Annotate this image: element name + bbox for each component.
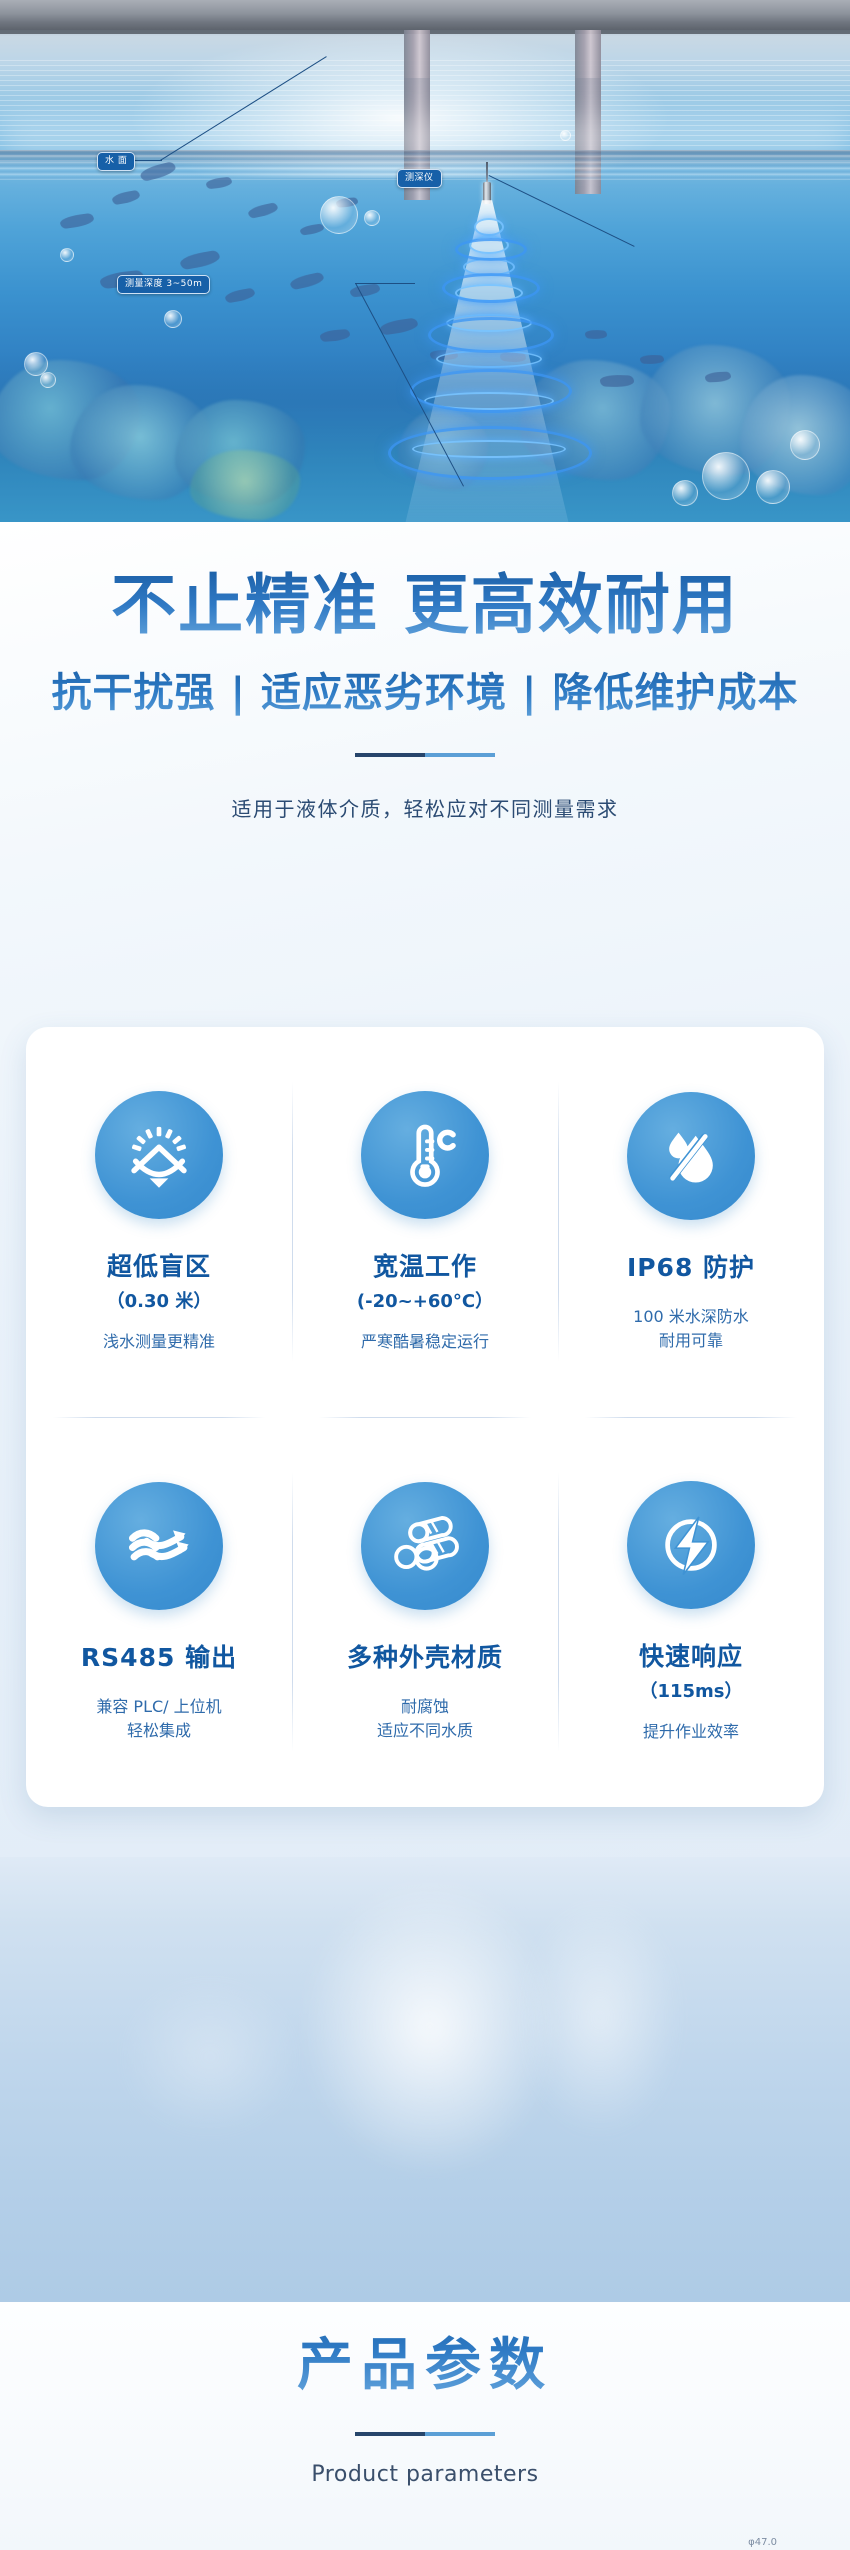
- feature-card-panel: 超低盲区 （0.30 米） 浅水测量更精准: [26, 1027, 824, 1807]
- bubble: [702, 452, 750, 500]
- feature-title: IP68 防护: [627, 1248, 755, 1284]
- fish: [179, 250, 221, 271]
- feature-card-wide-temperature[interactable]: 宽温工作 (-20~+60°C） 严寒酷暑稳定运行: [292, 1027, 558, 1417]
- divider-dark-segment: [355, 2432, 425, 2436]
- fish: [320, 329, 351, 342]
- bridge-deck: [0, 0, 850, 30]
- feature-desc: 耐腐蚀 适应不同水质: [377, 1695, 473, 1743]
- sonar-ring: [410, 369, 572, 413]
- headline-caption: 适用于液体介质，轻松应对不同测量需求: [0, 793, 850, 822]
- lightning-bolt-icon: [627, 1481, 755, 1609]
- feature-grid: 超低盲区 （0.30 米） 浅水测量更精准: [26, 1027, 824, 1807]
- fish: [379, 317, 418, 335]
- divider-dark-segment: [355, 753, 425, 757]
- feature-card-housing-materials[interactable]: 多种外壳材质 耐腐蚀 适应不同水质: [292, 1417, 558, 1807]
- bubble: [164, 310, 182, 328]
- feature-spec: （0.30 米）: [107, 1287, 212, 1313]
- bubble: [320, 196, 358, 234]
- bubble: [60, 248, 74, 262]
- bubble: [672, 480, 698, 506]
- params-title-en: Product parameters: [0, 2462, 850, 2487]
- hero-label-depth-sounder: 测深仪: [397, 169, 442, 188]
- water-background-strip: [0, 1857, 850, 2302]
- feature-desc: 100 米水深防水 耐用可靠: [633, 1305, 749, 1353]
- feature-title: 宽温工作: [373, 1247, 477, 1283]
- waterproof-droplet-icon: [627, 1092, 755, 1220]
- product-detail-page: 水 面 测深仪 测量深度 3~50m 不止精准 更高效耐用 抗干扰强 | 适应恶…: [0, 0, 850, 2550]
- leader-line-depth-sounder: [489, 175, 635, 247]
- feature-title: 超低盲区: [107, 1247, 211, 1283]
- leader-line-depth-flat: [355, 283, 415, 284]
- sonar-ring: [442, 273, 540, 303]
- fish: [299, 223, 324, 235]
- thermometer-celsius-icon: [361, 1091, 489, 1219]
- feature-card-low-blind-zone[interactable]: 超低盲区 （0.30 米） 浅水测量更精准: [26, 1027, 292, 1417]
- sonar-ring: [388, 426, 592, 480]
- water-splash-highlight: [520, 1897, 680, 2137]
- feature-desc: 浅水测量更精准: [103, 1330, 215, 1354]
- fish: [289, 272, 325, 291]
- signal-wave-arrows-icon: [95, 1482, 223, 1610]
- divider-light-segment: [425, 2432, 495, 2436]
- page-subtitle: 抗干扰强 | 适应恶劣环境 | 降低维护成本: [0, 667, 850, 719]
- product-parameters-section: 产品参数 Product parameters φ47.0: [0, 2302, 850, 2550]
- sonar-ring: [428, 317, 554, 353]
- fish: [585, 329, 608, 340]
- hero-label-measuring-depth: 测量深度 3~50m: [117, 275, 210, 294]
- sonar-arc: [474, 218, 504, 236]
- fish: [350, 283, 381, 297]
- sensor-cable: [486, 162, 488, 184]
- fish: [59, 213, 94, 230]
- feature-title: RS485 输出: [81, 1638, 237, 1674]
- feature-card-ip68[interactable]: IP68 防护 100 米水深防水 耐用可靠: [558, 1027, 824, 1417]
- feature-title: 多种外壳材质: [347, 1638, 503, 1674]
- dimension-note: φ47.0: [748, 2537, 777, 2548]
- fish: [247, 202, 279, 219]
- gauge-blind-zone-icon: [95, 1091, 223, 1219]
- hero-label-water-surface: 水 面: [97, 152, 135, 171]
- feature-title: 快速响应: [639, 1637, 743, 1673]
- bubble: [40, 372, 56, 388]
- coral-cluster-7: [190, 450, 300, 520]
- feature-spec: (-20~+60°C）: [357, 1287, 493, 1313]
- page-title: 不止精准 更高效耐用: [0, 567, 850, 645]
- feature-spec: （115ms）: [639, 1677, 742, 1703]
- fish: [224, 287, 255, 303]
- feature-card-fast-response[interactable]: 快速响应 （115ms） 提升作业效率: [558, 1417, 824, 1807]
- divider-light-segment: [425, 753, 495, 757]
- fish: [111, 190, 140, 206]
- feature-desc: 严寒酷暑稳定运行: [361, 1330, 489, 1354]
- sonar-ring: [455, 238, 527, 261]
- bubble: [790, 430, 820, 460]
- bubble: [364, 210, 380, 226]
- feature-desc: 兼容 PLC/ 上位机 轻松集成: [96, 1695, 221, 1743]
- bubble: [756, 470, 790, 504]
- params-divider: [355, 2432, 495, 2436]
- features-section: 不止精准 更高效耐用 抗干扰强 | 适应恶劣环境 | 降低维护成本 适用于液体介…: [0, 522, 850, 2302]
- pier-reflection-right: [575, 78, 601, 198]
- hero-underwater-illustration: 水 面 测深仪 测量深度 3~50m: [0, 0, 850, 522]
- params-title: 产品参数: [0, 2302, 850, 2398]
- feature-desc: 提升作业效率: [643, 1720, 739, 1744]
- headline-block: 不止精准 更高效耐用 抗干扰强 | 适应恶劣环境 | 降低维护成本 适用于液体介…: [0, 567, 850, 822]
- bubble: [560, 130, 571, 141]
- feature-card-rs485[interactable]: RS485 输出 兼容 PLC/ 上位机 轻松集成: [26, 1417, 292, 1807]
- water-splash-highlight: [120, 1977, 300, 2137]
- divider: [355, 753, 495, 757]
- material-tubes-icon: [361, 1482, 489, 1610]
